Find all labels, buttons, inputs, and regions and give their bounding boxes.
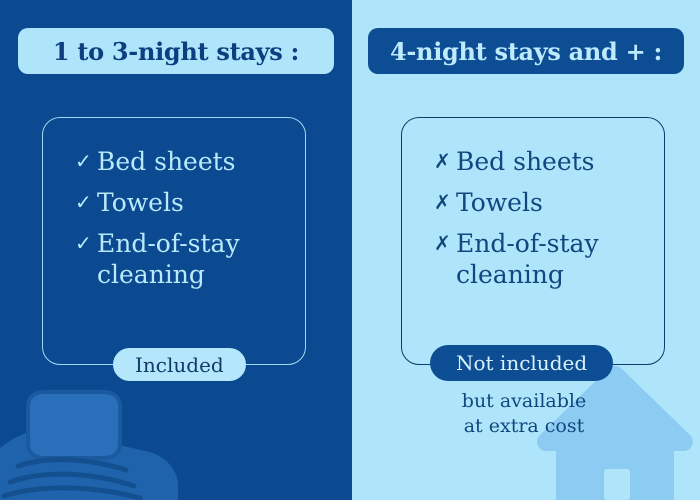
- note-line-1: but available: [424, 389, 624, 414]
- list-item-label: Towels: [456, 187, 543, 219]
- right-title-pill: 4-night stays and + :: [368, 28, 684, 74]
- list-item-label: Bed sheets: [97, 146, 236, 178]
- left-title-pill: 1 to 3-night stays :: [18, 28, 334, 74]
- list-item-label: Towels: [97, 187, 184, 219]
- status-badge-included: Included: [113, 348, 246, 381]
- left-benefits-card: ✓ Bed sheets ✓ Towels ✓ End-of-stay clea…: [42, 117, 306, 365]
- cross-mark-icon: ✗: [434, 146, 456, 176]
- check-mark-icon: ✓: [75, 146, 97, 176]
- list-item-label: Bed sheets: [456, 146, 595, 178]
- list-item: ✓ Bed sheets: [75, 146, 305, 178]
- list-item-label: End-of-stay cleaning: [456, 228, 664, 292]
- list-item: ✗ Towels: [434, 187, 664, 219]
- list-item: ✓ Towels: [75, 187, 305, 219]
- status-badge-not-included: Not included: [430, 345, 613, 381]
- panel-short-stay: 1 to 3-night stays : ✓ Bed sheets ✓ Towe…: [0, 0, 352, 500]
- check-mark-icon: ✓: [75, 228, 97, 258]
- left-benefit-list: ✓ Bed sheets ✓ Towels ✓ End-of-stay clea…: [43, 118, 305, 291]
- extra-cost-note: but available at extra cost: [424, 389, 624, 438]
- right-benefit-list: ✗ Bed sheets ✗ Towels ✗ End-of-stay clea…: [402, 118, 664, 291]
- list-item: ✓ End-of-stay cleaning: [75, 228, 305, 292]
- cross-mark-icon: ✗: [434, 228, 456, 258]
- bedding-illustration-icon: [0, 370, 200, 500]
- right-benefits-card: ✗ Bed sheets ✗ Towels ✗ End-of-stay clea…: [401, 117, 665, 365]
- list-item: ✗ Bed sheets: [434, 146, 664, 178]
- note-line-2: at extra cost: [424, 414, 624, 439]
- panel-long-stay: 4-night stays and + : ✗ Bed sheets ✗ Tow…: [352, 0, 700, 500]
- status-badge-label: Not included: [456, 351, 587, 375]
- right-title-text: 4-night stays and + :: [390, 37, 662, 66]
- list-item-label: End-of-stay cleaning: [97, 228, 305, 292]
- comparison-infographic: 1 to 3-night stays : ✓ Bed sheets ✓ Towe…: [0, 0, 700, 500]
- list-item: ✗ End-of-stay cleaning: [434, 228, 664, 292]
- check-mark-icon: ✓: [75, 187, 97, 217]
- cross-mark-icon: ✗: [434, 187, 456, 217]
- left-title-text: 1 to 3-night stays :: [53, 37, 299, 66]
- status-badge-label: Included: [135, 353, 224, 377]
